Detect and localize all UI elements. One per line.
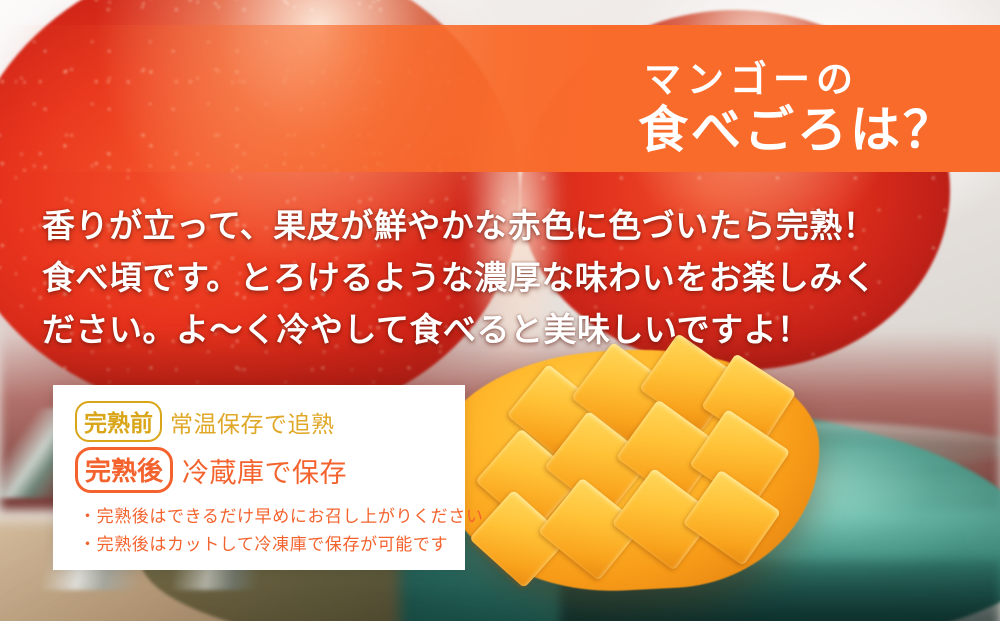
badge-before-ripening: 完熟前: [75, 401, 162, 442]
storage-note-item: ・完熟後はカットして冷凍庫で保存が可能です: [79, 532, 465, 560]
body-copy: 香りが立って、果皮が鮮やかな赤色に色づいたら完熟！ 食べ頃です。とろけるような濃…: [42, 200, 972, 356]
body-copy-line3: ださい。よ〜く冷やして食べると美味しいですよ！: [42, 304, 972, 356]
storage-text-after-ripening: 冷蔵庫で保存: [182, 451, 347, 490]
mango-promo-poster: マンゴーの 食べごろは？ 香りが立って、果皮が鮮やかな赤色に色づいたら完熟！ 食…: [0, 0, 1000, 621]
cut-mango-cubes: [423, 320, 837, 611]
banner-headline-line1: マンゴーの: [644, 59, 956, 100]
storage-notes: ・完熟後はできるだけ早めにお召し上がりください ・完熟後はカットして冷凍庫で保存…: [75, 504, 465, 559]
storage-info-rows: 完熟前 常温保存で追熟 完熟後 冷蔵庫で保存 ・完熟後はできるだけ早めにお召し上…: [53, 385, 465, 559]
body-copy-line1: 香りが立って、果皮が鮮やかな赤色に色づいたら完熟！: [42, 200, 972, 252]
storage-row-before-ripening: 完熟前 常温保存で追熟: [75, 401, 465, 442]
storage-text-before-ripening: 常温保存で追熟: [170, 405, 335, 439]
body-copy-line2: 食べ頃です。とろけるような濃厚な味わいをお楽しみく: [42, 252, 972, 304]
header-banner: マンゴーの 食べごろは？: [0, 25, 1000, 172]
banner-headline-line2: 食べごろは？: [638, 102, 956, 158]
storage-note-item: ・完熟後はできるだけ早めにお召し上がりください: [79, 504, 465, 532]
badge-after-ripening: 完熟後: [75, 447, 173, 493]
header-banner-text: マンゴーの 食べごろは？: [638, 59, 956, 158]
storage-info-card: 完熟前 常温保存で追熟 完熟後 冷蔵庫で保存 ・完熟後はできるだけ早めにお召し上…: [53, 385, 465, 570]
storage-row-after-ripening: 完熟後 冷蔵庫で保存: [75, 447, 465, 493]
